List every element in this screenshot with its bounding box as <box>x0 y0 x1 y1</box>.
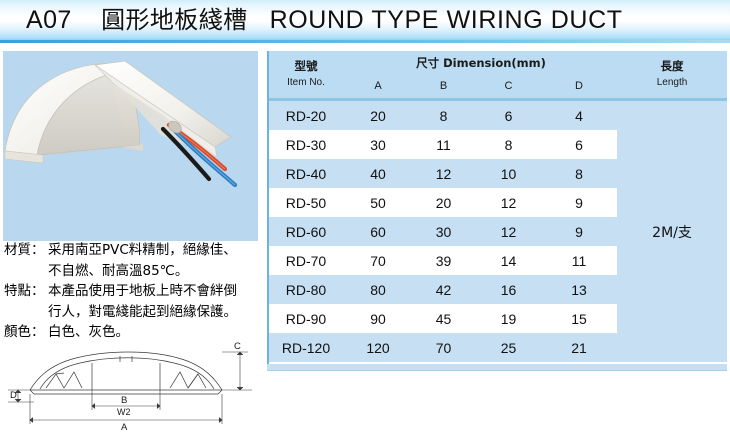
product-spec-sheet: A07 圓形地板綫槽 ROUND TYPE WIRING DUCT <box>0 0 730 432</box>
spec-text-feature-1: 本產品使用于地板上時不會絆倒 <box>48 281 266 302</box>
cell-item-no: RD-30 <box>267 130 345 159</box>
cell-dim-b: 39 <box>411 246 476 275</box>
cell-dim-b: 8 <box>411 101 476 130</box>
column-header-dim-b: B <box>411 74 476 98</box>
column-header-dim-c: C <box>476 74 541 98</box>
cell-length-value: 2M/支 <box>617 101 727 362</box>
cell-dim-a: 30 <box>345 130 411 159</box>
column-header-length-cn: 長度 <box>661 60 684 73</box>
cell-dim-c: 19 <box>476 304 541 333</box>
diagram-label-C: C <box>234 341 241 352</box>
cell-dim-d: 11 <box>541 246 617 275</box>
cell-item-no: RD-40 <box>267 159 345 188</box>
column-header-length-en: Length <box>657 77 688 89</box>
cell-dim-b: 70 <box>411 333 476 362</box>
spec-text-material-2: 不自燃、耐高溫85℃。 <box>48 261 266 282</box>
cell-item-no: RD-60 <box>267 217 345 246</box>
product-title-english: ROUND TYPE WIRING DUCT <box>270 6 623 34</box>
cell-dim-a: 120 <box>345 333 411 362</box>
cell-dim-c: 25 <box>476 333 541 362</box>
cell-dim-c: 6 <box>476 101 541 130</box>
cell-dim-b: 20 <box>411 188 476 217</box>
cell-dim-c: 10 <box>476 159 541 188</box>
cell-item-no: RD-90 <box>267 304 345 333</box>
product-photo-illustration <box>3 51 258 241</box>
table-row: RD-20208642M/支 <box>267 101 727 130</box>
column-header-item-no-en: Item No. <box>287 77 325 89</box>
cell-dim-d: 9 <box>541 217 617 246</box>
cell-item-no: RD-50 <box>267 188 345 217</box>
title-banner: A07 圓形地板綫槽 ROUND TYPE WIRING DUCT <box>0 0 730 40</box>
cell-dim-d: 21 <box>541 333 617 362</box>
spec-row-material-cont: 不自燃、耐高溫85℃。 <box>4 261 266 282</box>
cell-dim-b: 11 <box>411 130 476 159</box>
cell-dim-d: 4 <box>541 101 617 130</box>
table-header: 型號 Item No. 尺寸 Dimension(mm) 長度 Length <box>267 51 727 101</box>
title-underline-divider <box>0 40 730 43</box>
cross-section-diagram: D C B W2 <box>0 340 266 432</box>
column-header-dimension-group: 尺寸 Dimension(mm) <box>345 51 617 74</box>
cell-dim-c: 12 <box>476 217 541 246</box>
cross-section-drawing: D C B W2 <box>0 340 266 432</box>
cell-dim-d: 13 <box>541 275 617 304</box>
cell-dim-b: 30 <box>411 217 476 246</box>
spec-indent-2 <box>4 302 48 323</box>
product-code: A07 <box>26 6 72 34</box>
cell-dim-c: 16 <box>476 275 541 304</box>
table-body: RD-20208642M/支RD-30301186RD-404012108RD-… <box>267 101 727 362</box>
spec-row-feature: 特點： 本產品使用于地板上時不會絆倒 <box>4 281 266 302</box>
cell-dim-a: 20 <box>345 101 411 130</box>
spec-label-material: 材質： <box>4 240 48 261</box>
cell-dim-c: 12 <box>476 188 541 217</box>
column-header-dim-d: D <box>541 74 617 98</box>
table-bottom-rule <box>267 370 727 371</box>
cell-item-no: RD-120 <box>267 333 345 362</box>
specification-text-block: 材質： 采用南亞PVC料精制，絕緣佳、 不自燃、耐高溫85℃。 特點： 本產品使… <box>4 240 266 343</box>
spec-text-feature-2: 行人，對電綫能起到絕緣保護。 <box>48 302 266 323</box>
cell-dim-b: 42 <box>411 275 476 304</box>
spec-text-material-1: 采用南亞PVC料精制，絕緣佳、 <box>48 240 266 261</box>
column-header-dimension-label: 尺寸 Dimension(mm) <box>416 55 546 71</box>
product-title-chinese: 圓形地板綫槽 <box>101 6 247 34</box>
cell-item-no: RD-70 <box>267 246 345 275</box>
spec-label-feature: 特點： <box>4 281 48 302</box>
table-left-rule <box>267 51 269 367</box>
cell-dim-a: 80 <box>345 275 411 304</box>
cell-dim-d: 9 <box>541 188 617 217</box>
specification-table: 型號 Item No. 尺寸 Dimension(mm) 長度 Length <box>267 51 727 362</box>
column-header-length: 長度 Length <box>617 51 727 98</box>
diagram-label-A: A <box>121 422 128 432</box>
diagram-label-W2: W2 <box>117 407 131 417</box>
cell-dim-a: 50 <box>345 188 411 217</box>
cell-item-no: RD-80 <box>267 275 345 304</box>
cell-dim-d: 8 <box>541 159 617 188</box>
specification-table-wrapper: 型號 Item No. 尺寸 Dimension(mm) 長度 Length <box>267 51 727 367</box>
spec-row-material: 材質： 采用南亞PVC料精制，絕緣佳、 <box>4 240 266 261</box>
product-photo <box>3 51 258 241</box>
cell-dim-c: 14 <box>476 246 541 275</box>
spec-indent-1 <box>4 261 48 282</box>
cell-dim-a: 70 <box>345 246 411 275</box>
cell-dim-b: 12 <box>411 159 476 188</box>
cell-dim-a: 40 <box>345 159 411 188</box>
spec-row-feature-cont: 行人，對電綫能起到絕緣保護。 <box>4 302 266 323</box>
diagram-label-D: D <box>10 390 17 401</box>
cell-dim-a: 90 <box>345 304 411 333</box>
cell-dim-a: 60 <box>345 217 411 246</box>
cell-dim-d: 6 <box>541 130 617 159</box>
column-header-dim-a: A <box>345 74 411 98</box>
column-header-item-no-cn: 型號 <box>295 60 318 73</box>
cell-dim-d: 15 <box>541 304 617 333</box>
column-header-item-no: 型號 Item No. <box>267 51 345 98</box>
cell-item-no: RD-20 <box>267 101 345 130</box>
diagram-label-B: B <box>121 395 127 406</box>
page-title: A07 圓形地板綫槽 ROUND TYPE WIRING DUCT <box>0 0 623 40</box>
cell-dim-c: 8 <box>476 130 541 159</box>
cell-dim-b: 45 <box>411 304 476 333</box>
